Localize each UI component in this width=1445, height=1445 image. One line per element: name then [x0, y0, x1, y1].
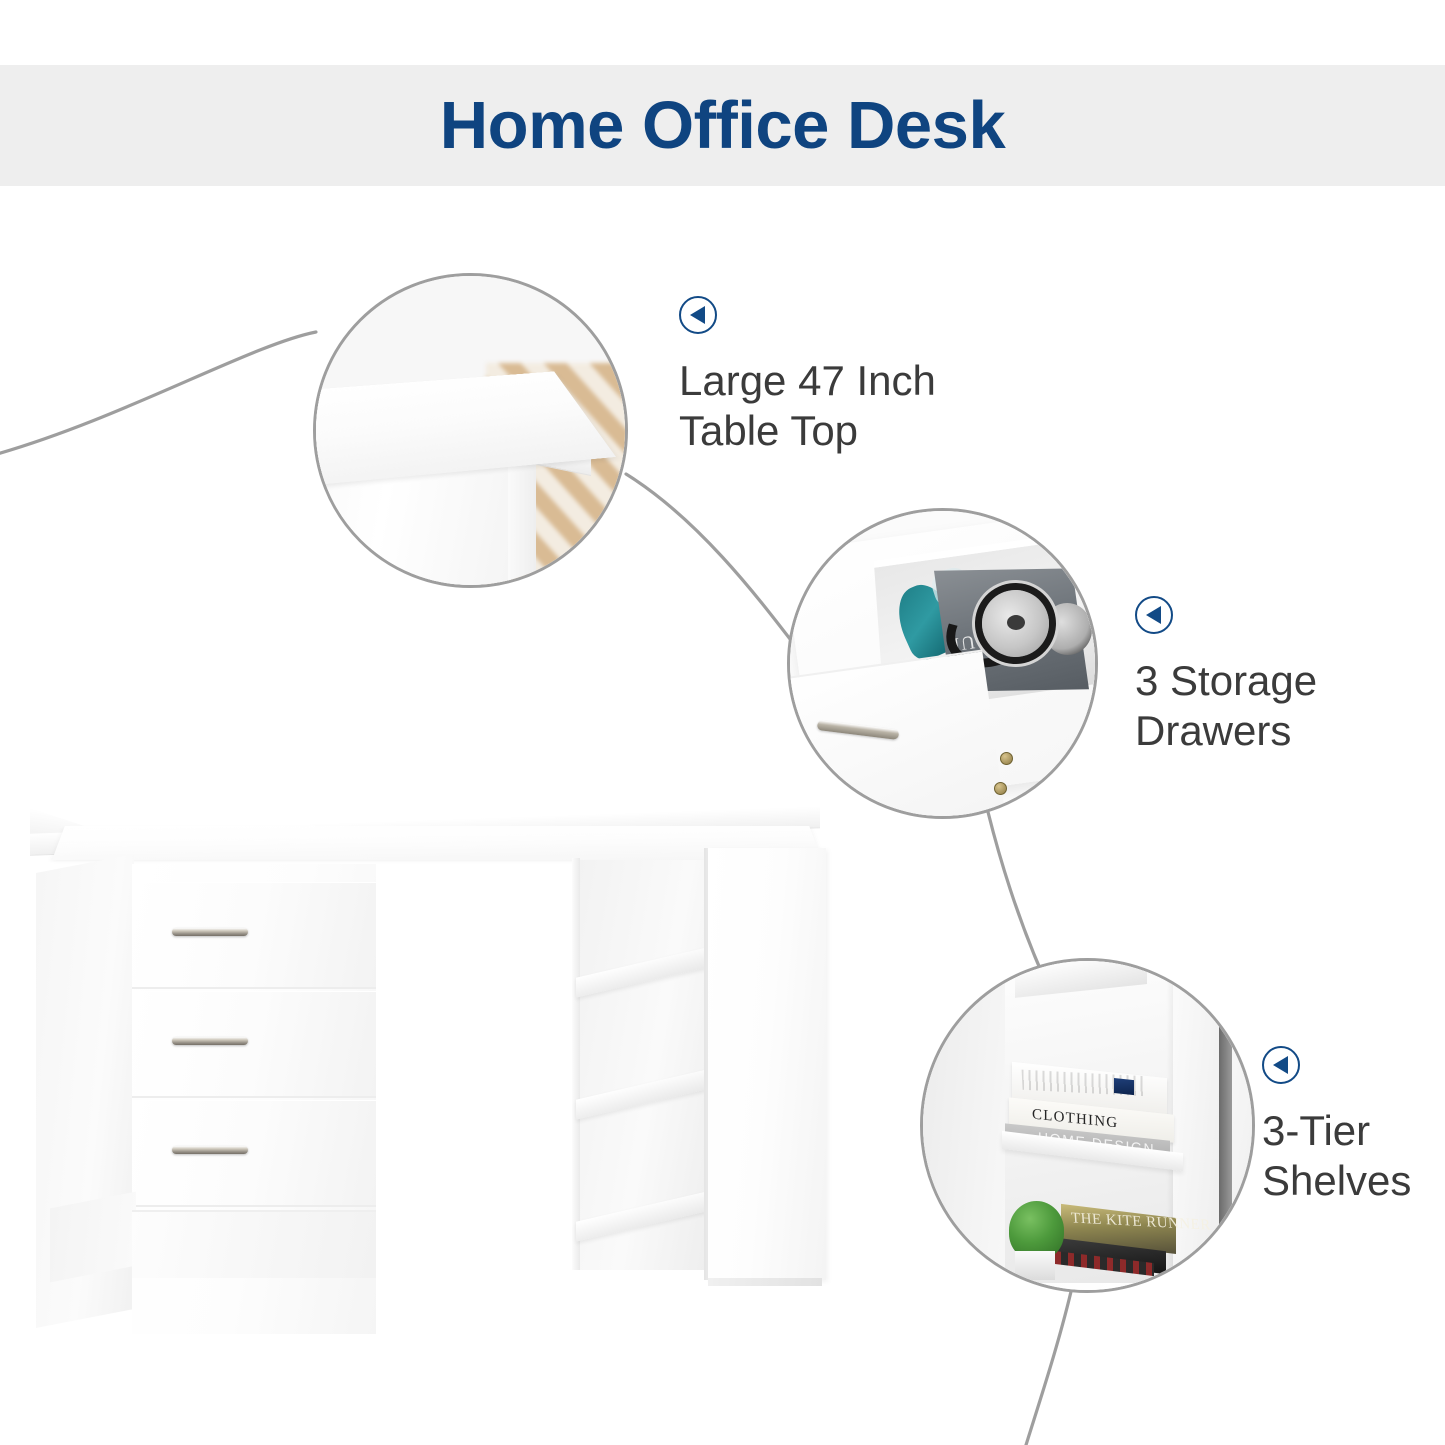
- blue-bookmark: [1114, 1078, 1134, 1095]
- callout-table-top-label: Large 47 Inch Table Top: [679, 356, 936, 455]
- desk-drawer-handle-1: [172, 928, 248, 936]
- connector-desk-to-tabletop: [0, 332, 316, 456]
- callout-tier-shelves-label: 3-Tier Shelves: [1262, 1106, 1411, 1205]
- infographic-canvas: Home Office Desk ANTIQUE: [0, 0, 1445, 1445]
- headphone-cup-center: [1007, 615, 1025, 630]
- shelf-right-panel: [1173, 961, 1226, 1290]
- shelf-shadow-gap: [1219, 974, 1232, 1277]
- arrow-left-circle-icon: [1262, 1046, 1300, 1084]
- arrow-left-circle-icon: [679, 296, 717, 334]
- connector-shelves-downward: [1026, 1283, 1073, 1445]
- inset-circle-tier-shelves: CLOTHING HOME DESIGN THE KITE RUNNER: [920, 958, 1255, 1293]
- inset-table-top-photo: [316, 276, 625, 585]
- drawer-pedestal: [36, 840, 376, 1330]
- connector-tabletop-to-drawer: [626, 474, 800, 652]
- callout-storage-drawers-label: 3 Storage Drawers: [1135, 656, 1317, 755]
- callout-table-top: Large 47 Inch Table Top: [679, 296, 936, 455]
- desk-drawer-2: [132, 991, 376, 1098]
- product-photo-desk: [22, 760, 844, 1330]
- desk-drawer-3: [132, 1100, 376, 1207]
- desk-drawer-handle-3: [172, 1146, 248, 1154]
- page-title: Home Office Desk: [440, 92, 1005, 159]
- arrow-left-circle-icon: [1135, 596, 1173, 634]
- pedestal-plinth: [132, 1210, 376, 1278]
- inset-shelves-photo: CLOTHING HOME DESIGN THE KITE RUNNER: [923, 961, 1252, 1290]
- header-band: Home Office Desk: [0, 65, 1445, 186]
- desk-drawer-handle-2: [172, 1037, 248, 1045]
- shelf-column-foot: [708, 1278, 822, 1286]
- callout-storage-drawers: 3 Storage Drawers: [1135, 596, 1317, 755]
- shelf-column-side-panel: [708, 848, 826, 1280]
- callout-tier-shelves: 3-Tier Shelves: [1262, 1046, 1411, 1205]
- shelf-left-panel: [923, 961, 1009, 1290]
- desk-leg: [508, 454, 536, 588]
- shelf-column-left-edge: [572, 858, 580, 1270]
- shelf-column: [558, 842, 848, 1294]
- desk-drawer-1: [132, 882, 376, 989]
- plant-pot: [1015, 1251, 1054, 1281]
- inset-circle-table-top: [313, 273, 628, 588]
